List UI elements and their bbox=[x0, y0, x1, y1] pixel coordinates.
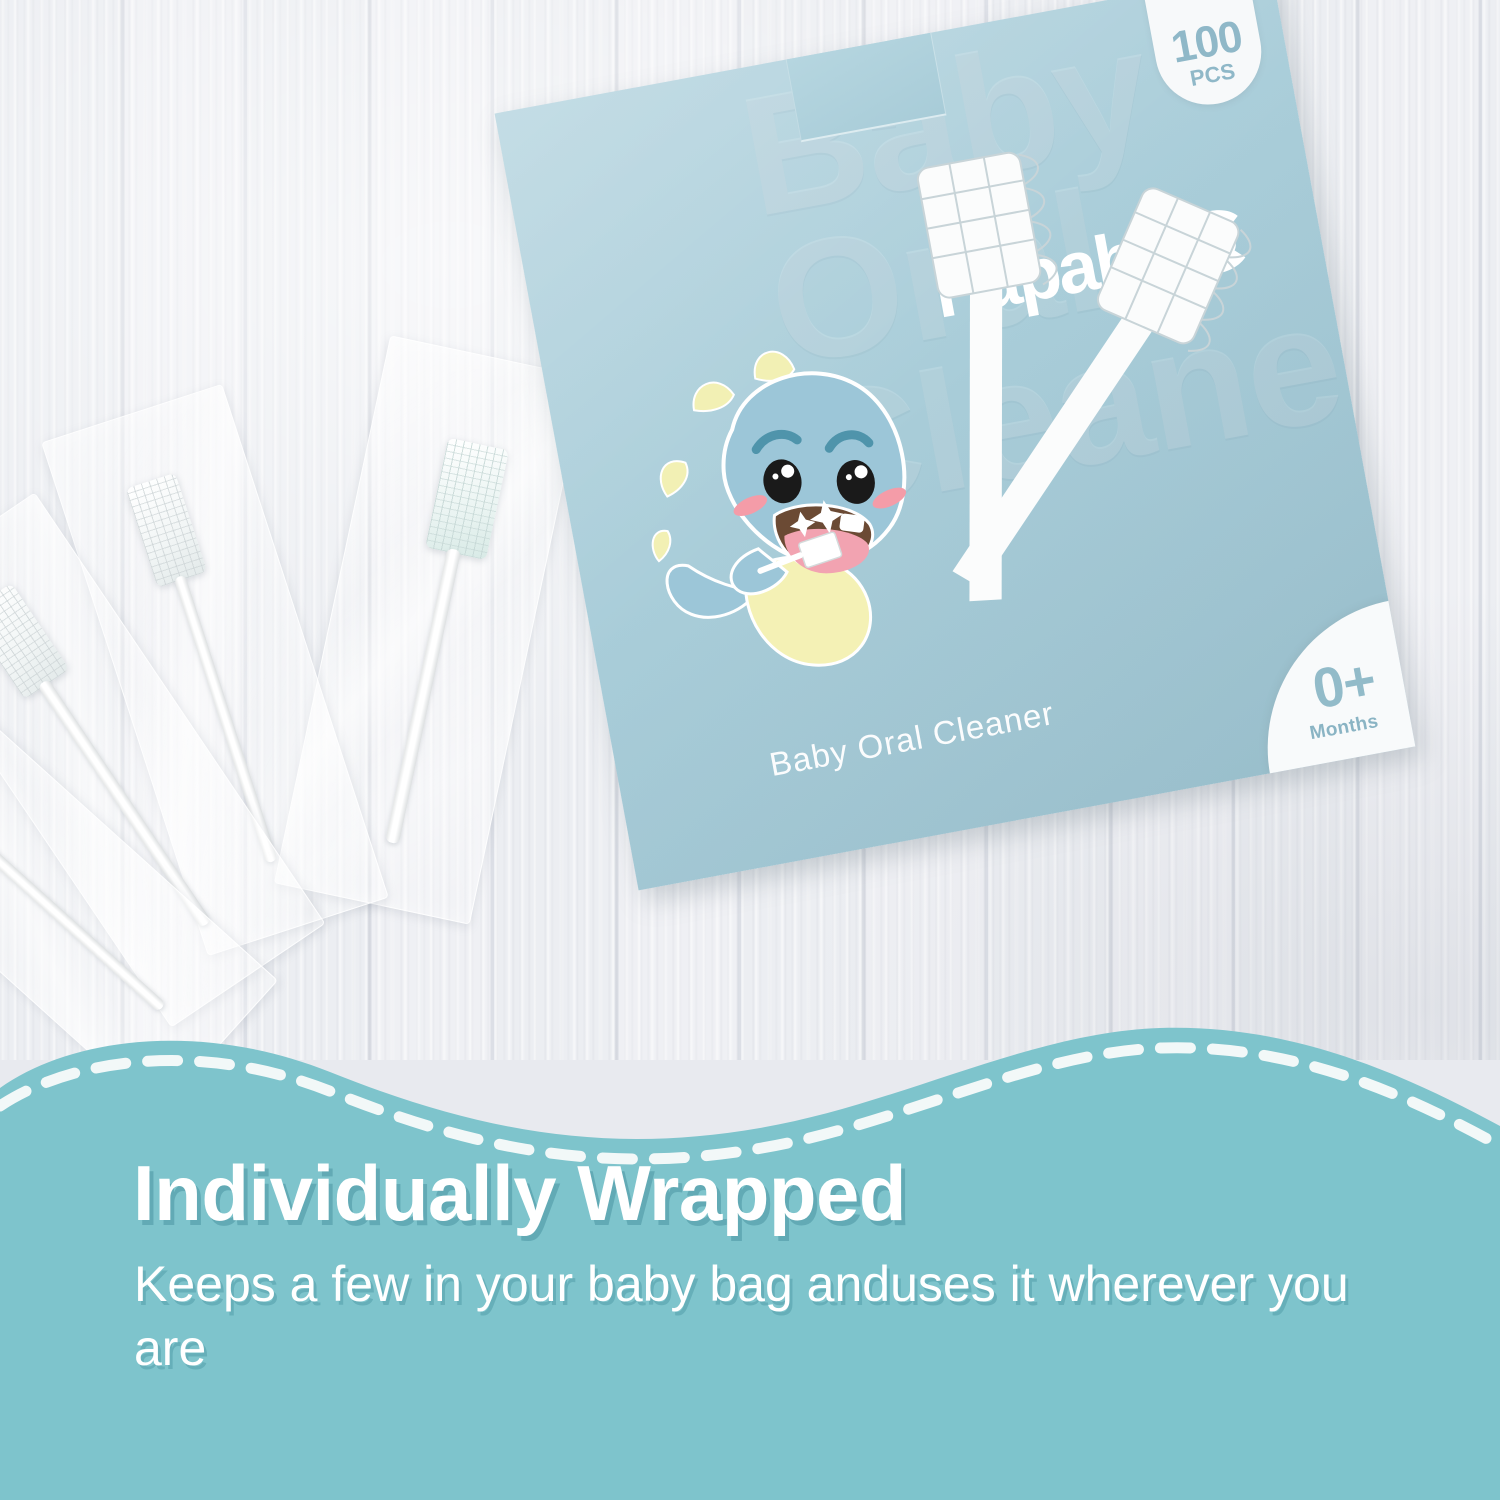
banner-headline: Individually Wrapped bbox=[133, 1148, 906, 1239]
wrapped-swabs-group bbox=[0, 330, 600, 1010]
banner-copy: Individually Wrapped Keeps a few in your… bbox=[0, 980, 1500, 1500]
age-badge-value: 0+ bbox=[1309, 656, 1378, 714]
product-marketing-image: Baby Oral Cleaner Papabli bbox=[0, 0, 1500, 1500]
count-badge-number: 100 bbox=[1168, 17, 1244, 69]
product-box: Baby Oral Cleaner Papabli bbox=[495, 0, 1416, 890]
product-box-container: Baby Oral Cleaner Papabli bbox=[560, 35, 1460, 1015]
banner-subtext: Keeps a few in your baby bag anduses it … bbox=[134, 1252, 1374, 1380]
